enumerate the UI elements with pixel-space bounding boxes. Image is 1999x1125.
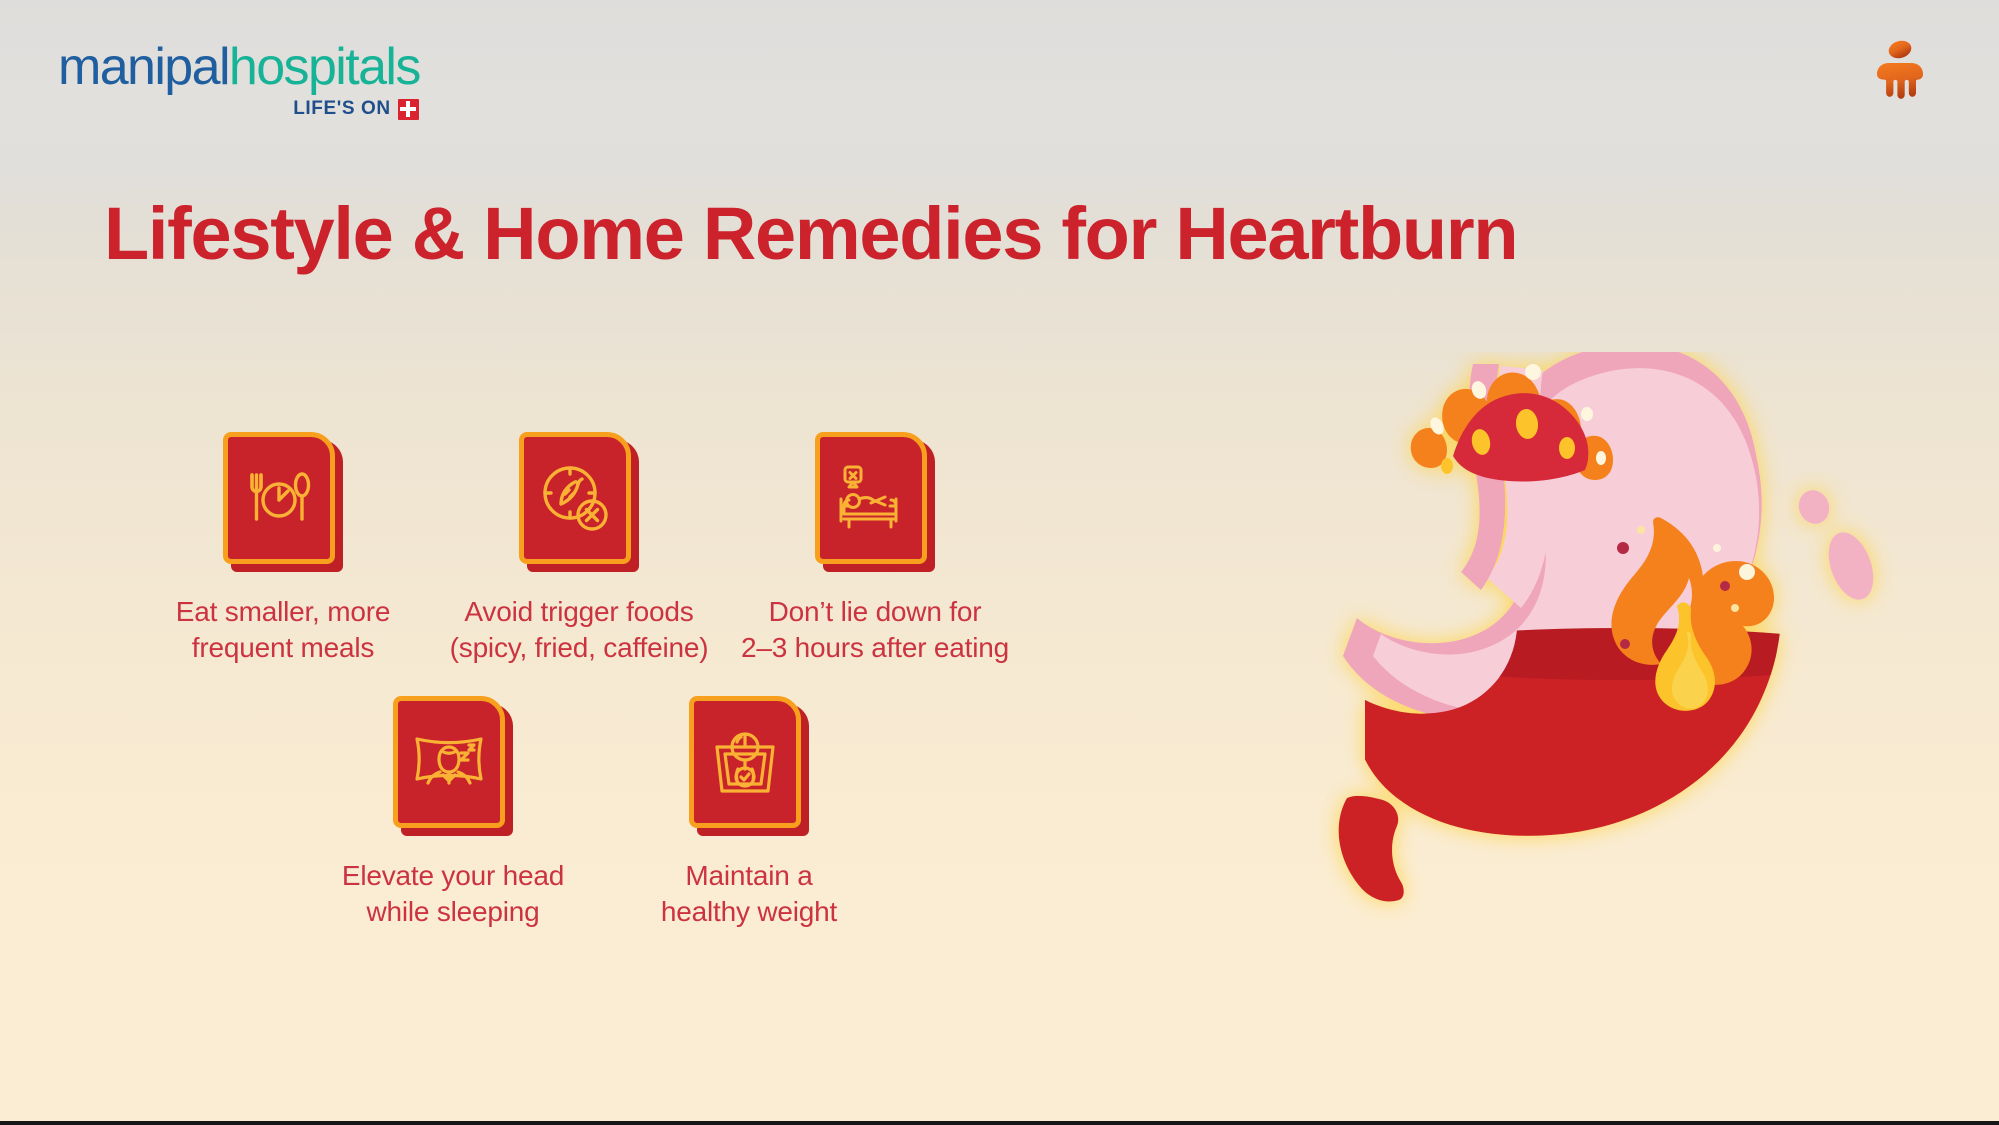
- slide-canvas: manipalhospitals LIFE'S ON Lifest: [0, 0, 1999, 1125]
- tip-icon-wrap: [393, 696, 513, 836]
- tips-row-top: Eat smaller, more frequent meals: [0, 432, 1130, 666]
- tip-icon-wrap: [815, 432, 935, 572]
- tip-label: Don’t lie down for 2–3 hours after eatin…: [741, 594, 1009, 666]
- header-bar: manipalhospitals LIFE'S ON: [0, 0, 1999, 168]
- person-lying-on-sofa-icon: [815, 432, 927, 564]
- tip-label-line1: Maintain a: [685, 860, 812, 891]
- tip-icon-wrap: [689, 696, 809, 836]
- tip-icon-wrap: [519, 432, 639, 572]
- tip-label-line1: Elevate your head: [342, 860, 564, 891]
- stomach-body-group: [1339, 352, 1925, 1042]
- tips-grid: Eat smaller, more frequent meals: [0, 432, 1130, 930]
- page-title: Lifestyle & Home Remedies for Heartburn: [104, 194, 1904, 274]
- tip-card-avoid-trigger-foods[interactable]: Avoid trigger foods (spicy, fried, caffe…: [431, 432, 727, 666]
- tip-label-line2: 2–3 hours after eating: [741, 632, 1009, 663]
- logo-word-hospitals: hospitals: [229, 38, 420, 96]
- tip-card-dont-lie-down[interactable]: Don’t lie down for 2–3 hours after eatin…: [727, 432, 1023, 666]
- logo-word-manipal: manipal: [58, 38, 229, 96]
- chili-pepper-prohibited-icon: [519, 432, 631, 564]
- logo-wordmark: manipalhospitals: [58, 40, 420, 94]
- stomach-acid-tip: [1339, 796, 1404, 902]
- tip-label-line1: Eat smaller, more: [176, 596, 390, 627]
- tip-label: Elevate your head while sleeping: [342, 858, 564, 930]
- tip-label-line1: Avoid trigger foods: [464, 596, 693, 627]
- tip-label: Eat smaller, more frequent meals: [176, 594, 390, 666]
- weight-scale-check-icon: [689, 696, 801, 828]
- tip-card-maintain-healthy-weight[interactable]: Maintain a healthy weight: [601, 696, 897, 930]
- plate-fork-spoon-clock-icon: [223, 432, 335, 564]
- stomach-highlights: [1794, 486, 1882, 606]
- tip-label-line1: Don’t lie down for: [769, 596, 982, 627]
- tip-label-line2: frequent meals: [192, 632, 374, 663]
- stomach-with-acid-reflux-flame-illustration: [1305, 352, 1965, 1042]
- tip-card-elevate-head[interactable]: Elevate your head while sleeping: [305, 696, 601, 930]
- tip-label: Maintain a healthy weight: [661, 858, 837, 930]
- tip-label-line2: (spicy, fried, caffeine): [450, 632, 709, 663]
- logo-tagline-row: LIFE'S ON: [58, 98, 420, 120]
- manipal-flame-mark-icon: [1863, 32, 1937, 106]
- tip-label-line2: while sleeping: [366, 896, 539, 927]
- tips-row-bottom: Elevate your head while sleeping: [0, 696, 1130, 930]
- tip-label: Avoid trigger foods (spicy, fried, caffe…: [450, 594, 709, 666]
- logo-tagline: LIFE'S ON: [293, 98, 391, 120]
- tip-card-eat-smaller-meals[interactable]: Eat smaller, more frequent meals: [135, 432, 431, 666]
- tip-icon-wrap: [223, 432, 343, 572]
- medical-cross-icon: [398, 99, 419, 120]
- manipal-hospitals-logo[interactable]: manipalhospitals LIFE'S ON: [58, 40, 420, 120]
- person-sleeping-pillow-zzz-icon: [393, 696, 505, 828]
- tip-label-line2: healthy weight: [661, 896, 837, 927]
